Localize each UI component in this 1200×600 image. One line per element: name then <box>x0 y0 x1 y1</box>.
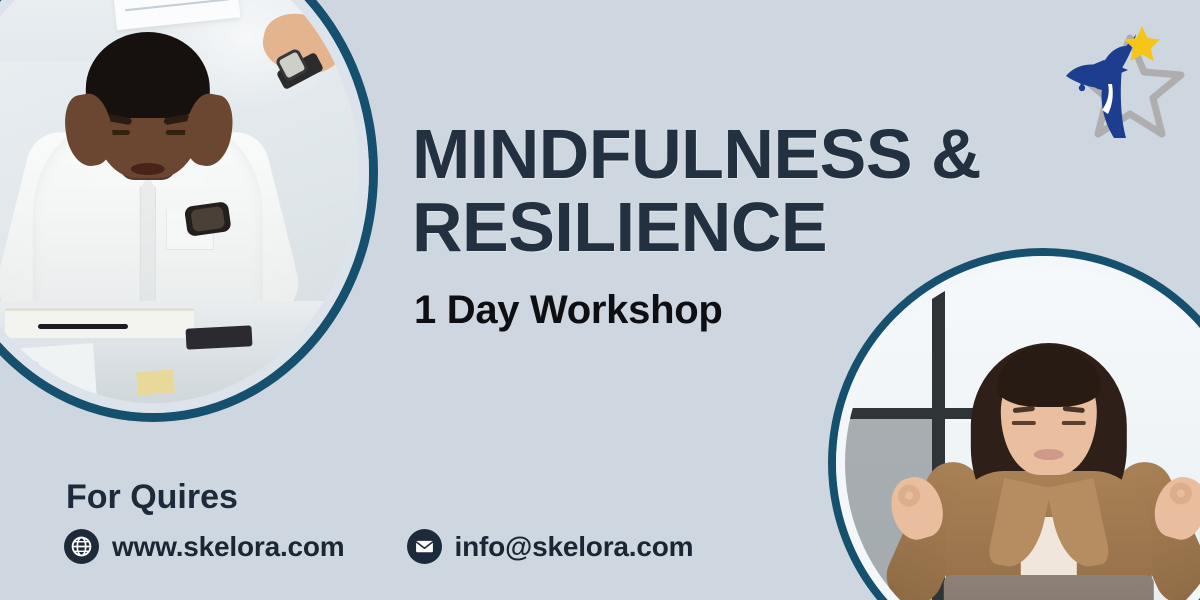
desk-pen <box>38 324 129 329</box>
headline-subtitle: 1 Day Workshop <box>414 288 1032 333</box>
left-photo-circle <box>0 0 378 422</box>
chart-printout <box>0 343 97 403</box>
contact-heading: For Quires <box>66 478 764 517</box>
contact-row: www.skelora.com info@skelora.com <box>64 529 764 564</box>
stressed-man-at-desk-photo <box>0 0 359 403</box>
email-address-text: info@skelora.com <box>455 531 694 563</box>
meditating-woman-figure <box>904 331 1194 600</box>
website-url-text: www.skelora.com <box>112 531 345 563</box>
website-contact-item[interactable]: www.skelora.com <box>64 529 345 564</box>
laptop <box>944 575 1154 600</box>
globe-icon <box>64 529 99 564</box>
headline-line-1: MINDFULNESS & <box>412 118 1032 191</box>
open-notebook <box>5 308 195 339</box>
email-contact-item[interactable]: info@skelora.com <box>407 529 694 564</box>
desk-phone <box>185 325 252 349</box>
man-mouth <box>131 163 165 175</box>
skelora-star-graduate-logo <box>1052 18 1192 140</box>
woman-lips <box>1034 449 1064 460</box>
sticky-note <box>136 369 175 395</box>
stressed-man-figure <box>18 8 278 338</box>
woman-eye-right-closed <box>1062 421 1086 425</box>
envelope-icon <box>407 529 442 564</box>
headline-block: MINDFULNESS & RESILIENCE 1 Day Workshop <box>412 118 1032 333</box>
woman-eye-left-closed <box>1012 421 1036 425</box>
contact-block: For Quires www.skelora.com <box>64 478 764 564</box>
headline-line-2: RESILIENCE <box>412 191 1032 264</box>
workshop-promo-banner: MINDFULNESS & RESILIENCE 1 Day Workshop … <box>0 0 1200 600</box>
